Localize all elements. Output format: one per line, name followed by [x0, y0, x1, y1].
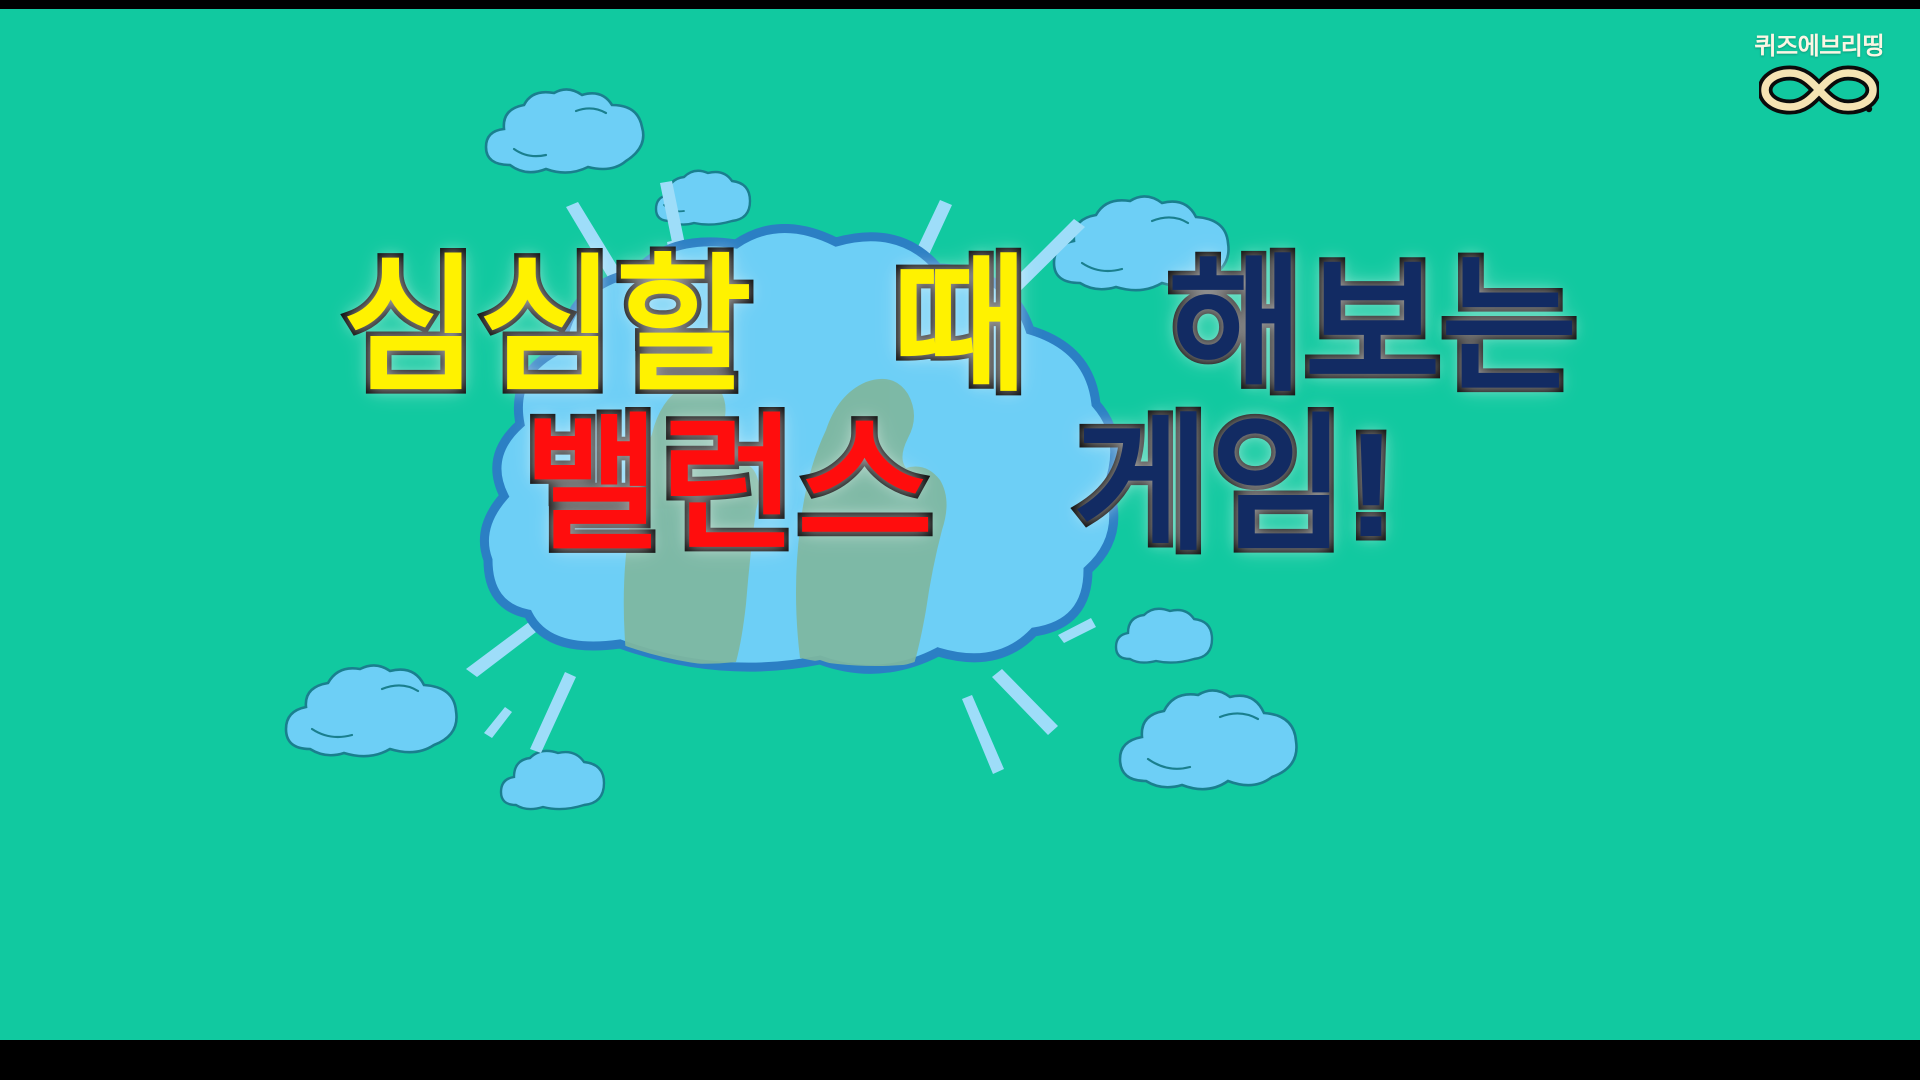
- infinity-icon: [1759, 61, 1879, 119]
- title-word-5: 게임!: [1073, 413, 1396, 558]
- page-title: 심심할 때 해보는 밸런스 게임!: [0, 254, 1920, 558]
- thumbnail-canvas: 심심할 때 해보는 밸런스 게임! 퀴즈에브리띵: [0, 0, 1920, 1080]
- brand-logo[interactable]: 퀴즈에브리띵: [1754, 35, 1884, 119]
- title-word-3: 해보는: [1168, 254, 1578, 399]
- artboard: 심심할 때 해보는 밸런스 게임! 퀴즈에브리띵: [0, 9, 1920, 1040]
- title-word-1: 심심할: [342, 254, 752, 399]
- brand-name: 퀴즈에브리띵: [1754, 35, 1884, 59]
- letterbox-bottom: [0, 1040, 1920, 1080]
- title-word-4: 밸런스: [524, 413, 934, 558]
- title-line-2: 밸런스 게임!: [0, 413, 1920, 558]
- title-word-2: 때: [892, 254, 1029, 399]
- letterbox-top: [0, 0, 1920, 9]
- title-line-1: 심심할 때 해보는: [0, 254, 1920, 399]
